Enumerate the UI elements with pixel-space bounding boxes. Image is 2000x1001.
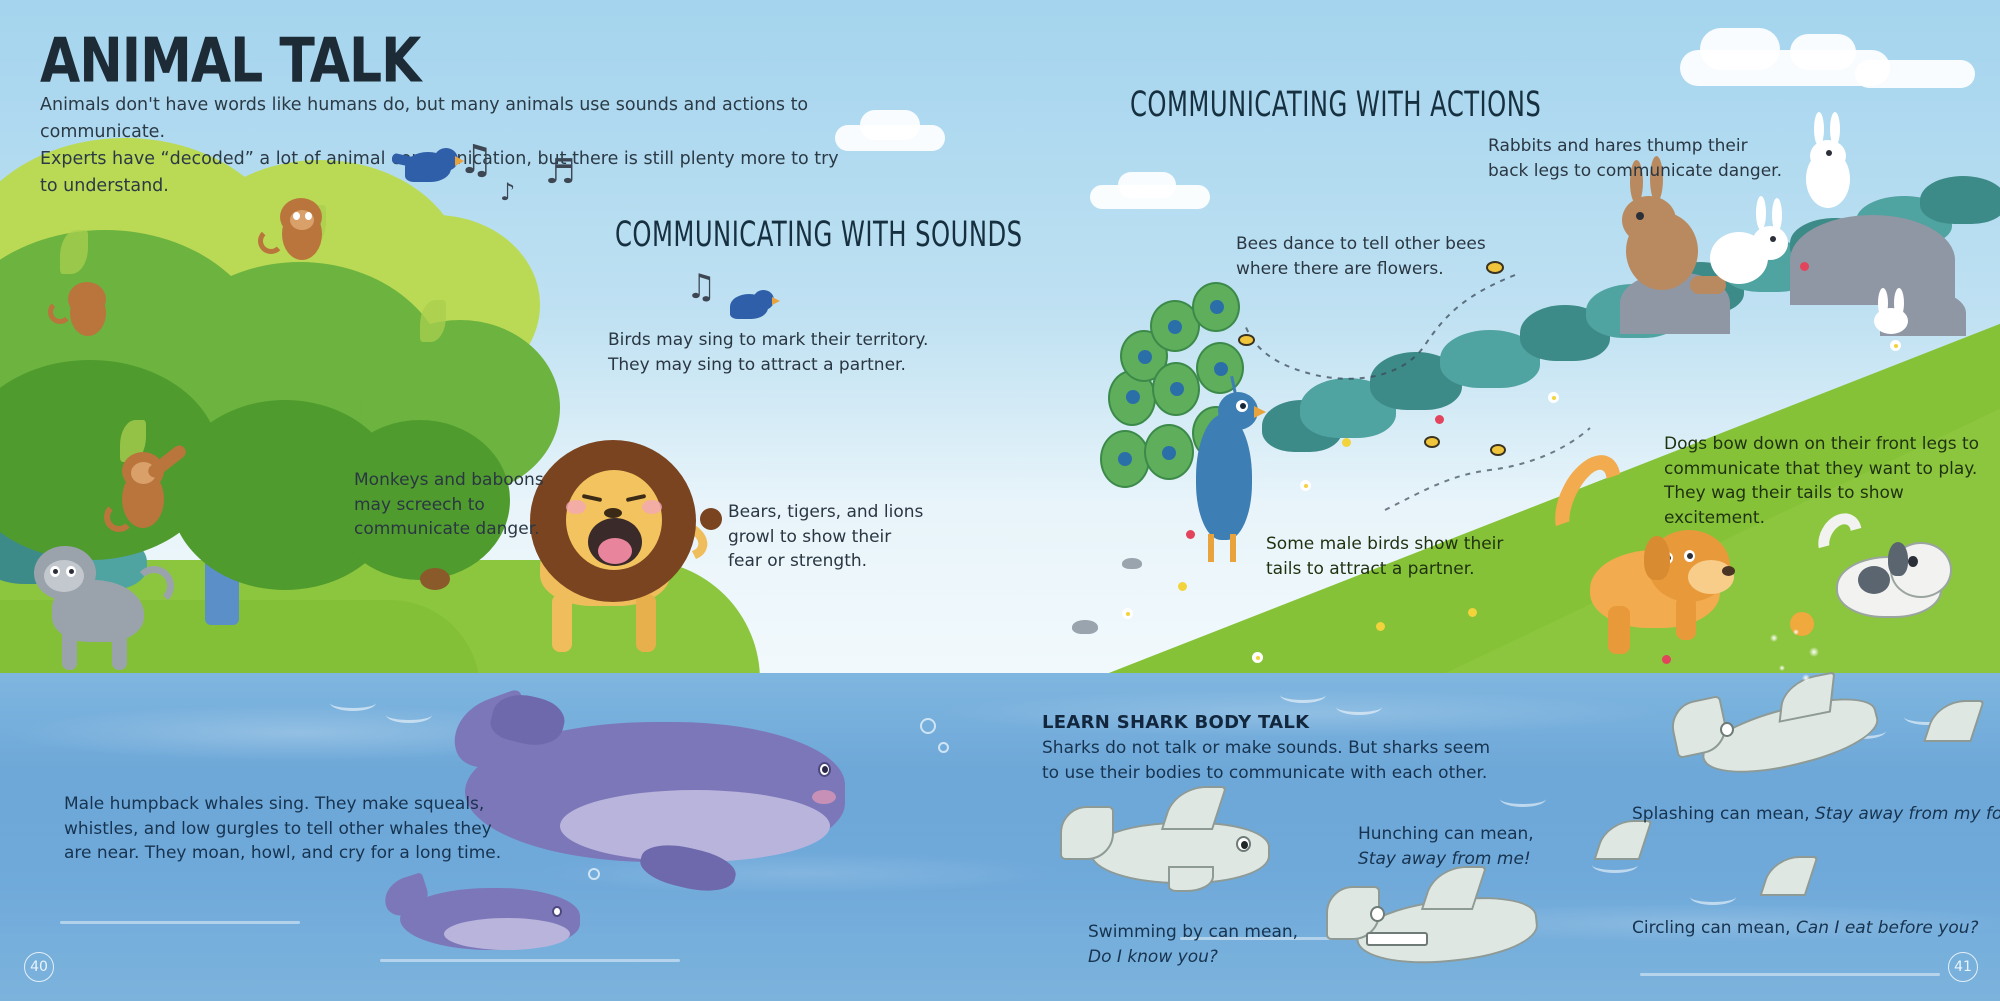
lion-ball: [420, 568, 450, 590]
peacock-eye-spot-3: [1138, 350, 1152, 364]
caption-shark-hunching: Hunching can mean, Stay away from me!: [1358, 822, 1534, 871]
rabbit-brown-head: [1622, 196, 1676, 244]
monkey-hanging-tail: [48, 300, 72, 324]
caption-shark-splashing-italic: Stay away from my food!: [1815, 804, 2000, 824]
dog-orange-nose: [1722, 566, 1735, 576]
flower-red-2: [1435, 415, 1444, 424]
caption-rabbits-line-1: Rabbits and hares thump their: [1488, 134, 1782, 159]
caption-shark-circling-prefix: Circling can mean,: [1632, 918, 1796, 938]
bluebird-mid-beak: [772, 297, 780, 305]
caption-monkeys-line-2: may screech to: [354, 493, 544, 518]
flower-yellow-2: [1468, 608, 1477, 617]
shark-hunching-teeth: [1366, 932, 1428, 946]
heading-communicating-with-actions: COMMUNICATING WITH ACTIONS: [1130, 85, 1541, 125]
caption-shark-intro-line-1: Sharks do not talk or make sounds. But s…: [1042, 736, 1490, 761]
wavelet-4: [1336, 699, 1382, 715]
music-note-4: ♫: [686, 270, 716, 304]
rabbit-white-mid-ear-1: [1756, 196, 1766, 230]
caption-monkeys-line-3: communicate danger.: [354, 517, 544, 542]
whale-bubble-2: [938, 742, 949, 753]
cloud-4: [1118, 172, 1176, 198]
heading-communicating-with-sounds: COMMUNICATING WITH SOUNDS: [615, 215, 1023, 255]
shark-swimming-pupil: [1241, 841, 1248, 849]
peacock-eye-spot-2: [1118, 452, 1132, 466]
caption-dogs-line-1: Dogs bow down on their front legs to: [1664, 432, 2000, 457]
lion-tail-tuft: [700, 508, 722, 530]
baboon-pupil-left: [53, 569, 58, 574]
lion-tongue: [598, 538, 632, 564]
bee-1: [1486, 261, 1504, 274]
caption-bees-line-2: where there are flowers.: [1236, 257, 1486, 282]
caption-peacock-line-1: Some male birds show their: [1266, 532, 1503, 557]
caption-bears-line-3: fear or strength.: [728, 549, 923, 574]
daisy-2: [1548, 392, 1559, 403]
lion-cheek-left: [566, 500, 586, 514]
cloud-6: [1700, 28, 1780, 70]
shark-splashing-eye: [1720, 722, 1734, 737]
bee-3: [1424, 436, 1440, 448]
flower-yellow-1: [1342, 438, 1351, 447]
page-number-right: 41: [1948, 952, 1978, 982]
caption-shark-intro-line-2: to use their bodies to communicate with …: [1042, 761, 1490, 786]
rock-2: [1122, 558, 1142, 569]
cloud-8: [1855, 60, 1975, 88]
wavelet-3: [1280, 687, 1326, 703]
daisy-5: [1252, 652, 1263, 663]
daisy-4: [1122, 608, 1133, 619]
caption-birds-line-2: They may sing to attract a partner.: [608, 353, 928, 378]
flower-yellow-3: [1376, 622, 1385, 631]
caption-monkeys: Monkeys and baboons may screech to commu…: [354, 468, 544, 542]
dog-white-ear: [1888, 542, 1908, 576]
peacock-leg-right: [1230, 534, 1236, 562]
caption-shark-splashing-prefix: Splashing can mean,: [1632, 804, 1815, 824]
wavelet-9: [1500, 791, 1546, 807]
caption-shark-circling: Circling can mean, Can I eat before you?: [1632, 916, 1979, 941]
flower-red-3: [1662, 655, 1671, 664]
seafoam-4: [1640, 973, 1940, 976]
caption-shark-splashing: Splashing can mean, Stay away from my fo…: [1632, 802, 2000, 827]
baboon-face: [44, 560, 84, 592]
caption-birds: Birds may sing to mark their territory. …: [608, 328, 928, 377]
humpback-whale-cheek: [812, 790, 836, 804]
baboon-pupil-right: [69, 569, 74, 574]
daisy-3: [1890, 340, 1901, 351]
flower-red-4: [1800, 262, 1809, 271]
monkey-in-tree-eye-left: [293, 212, 300, 220]
page-title: ANIMAL TALK: [40, 26, 420, 97]
caption-bees: Bees dance to tell other bees where ther…: [1236, 232, 1486, 281]
shark-splash-droplets: [1764, 628, 1824, 686]
caption-shark-swimming-line-2: Do I know you?: [1088, 945, 1298, 970]
rabbit-white-mid-eye: [1770, 236, 1776, 242]
heading-learn-shark-body-talk: LEARN SHARK BODY TALK: [1042, 712, 1309, 733]
ridge-bush-11: [1920, 176, 2000, 224]
cloud-7: [1790, 34, 1856, 70]
peacock-eye-spot-6: [1162, 446, 1176, 460]
lion-nose: [604, 508, 622, 518]
monkey-swinging-tail: [104, 502, 134, 532]
flower-red-1: [1186, 530, 1195, 539]
caption-bears-line-1: Bears, tigers, and lions: [728, 500, 923, 525]
wavelet-8: [1690, 889, 1736, 905]
flower-yellow-4: [1178, 582, 1187, 591]
dog-orange-leg-front: [1676, 596, 1696, 640]
lion-leg-front: [552, 594, 572, 652]
monkey-in-tree-eye-right: [305, 212, 312, 220]
caption-shark-swimming: Swimming by can mean, Do I know you?: [1088, 920, 1298, 969]
rabbit-white-mid-head: [1752, 226, 1788, 260]
monkey-hanging-head: [68, 282, 106, 316]
caption-bears-line-2: growl to show their: [728, 525, 923, 550]
music-note-3: ♬: [545, 155, 575, 189]
wavelet-1: [330, 695, 376, 711]
cloud-2: [860, 110, 920, 140]
dog-white-patch: [1858, 566, 1890, 594]
illustrated-spread: ANIMAL TALK Animals don't have words lik…: [0, 0, 2000, 1001]
caption-bees-line-1: Bees dance to tell other bees: [1236, 232, 1486, 257]
peacock-eye-spot-5: [1170, 382, 1184, 396]
baboon-leg-front: [62, 628, 77, 670]
bluebird-mid-head: [753, 290, 774, 310]
peacock-eye-spot-8: [1214, 362, 1228, 376]
caption-bears: Bears, tigers, and lions growl to show t…: [728, 500, 923, 574]
daisy-1: [1300, 480, 1311, 491]
peacock-leg-left: [1208, 534, 1214, 562]
rock-1: [1072, 620, 1098, 634]
intro-line-1: Animals don't have words like humans do,…: [40, 92, 860, 146]
seafoam-2: [380, 959, 680, 962]
rabbit-white-top-ear-1: [1814, 112, 1824, 146]
humpback-whale-pupil: [822, 766, 828, 773]
caption-dogs-line-3: They wag their tails to show excitement.: [1664, 481, 2000, 530]
caption-shark-hunching-line-2: Stay away from me!: [1358, 847, 1534, 872]
wavelet-2: [386, 707, 432, 723]
peacock-eye-spot-7: [1210, 300, 1224, 314]
baboon-leg-back: [112, 628, 127, 670]
caption-shark-intro: Sharks do not talk or make sounds. But s…: [1042, 736, 1490, 785]
caption-shark-swimming-line-1: Swimming by can mean,: [1088, 920, 1298, 945]
baboon-tail: [134, 566, 174, 606]
bee-4: [1490, 444, 1506, 456]
whale-calf-belly: [444, 918, 570, 950]
caption-shark-circling-italic: Can I eat before you?: [1796, 918, 1979, 938]
caption-rabbits-line-2: back legs to communicate danger.: [1488, 159, 1782, 184]
peacock-eye-spot-1: [1126, 390, 1140, 404]
caption-peacock-line-2: tails to attract a partner.: [1266, 557, 1503, 582]
dog-orange-ear: [1644, 536, 1670, 580]
bee-2: [1238, 334, 1255, 346]
dog-white-eye: [1908, 556, 1918, 567]
shark-swimming-tail-fin: [1060, 806, 1114, 860]
caption-dogs: Dogs bow down on their front legs to com…: [1664, 432, 2000, 530]
caption-whale-line-3: are near. They moan, howl, and cry for a…: [64, 841, 501, 866]
music-note-2: ♪: [500, 180, 515, 204]
page-number-left: 40: [24, 952, 54, 982]
rabbit-white-mid-ear-2: [1772, 198, 1782, 232]
caption-birds-line-1: Birds may sing to mark their territory.: [608, 328, 928, 353]
caption-peacock: Some male birds show their tails to attr…: [1266, 532, 1503, 581]
rabbit-white-top-ear-2: [1830, 112, 1840, 146]
whale-bubble-3: [588, 868, 600, 880]
caption-rabbits: Rabbits and hares thump their back legs …: [1488, 134, 1782, 183]
rabbit-brown-eye: [1636, 212, 1644, 220]
rabbit-white-top-head: [1810, 140, 1846, 172]
caption-dogs-line-2: communicate that they want to play.: [1664, 457, 2000, 482]
bluebird-top-beak: [455, 156, 464, 166]
caption-monkeys-line-1: Monkeys and baboons: [354, 468, 544, 493]
caption-whale-line-2: whistles, and low gurgles to tell other …: [64, 817, 501, 842]
monkey-in-tree-tail: [258, 228, 284, 254]
caption-whale: Male humpback whales sing. They make squ…: [64, 792, 501, 866]
lion-leg-back: [636, 594, 656, 652]
rabbit-white-top-eye: [1826, 150, 1832, 156]
whale-bubble-1: [920, 718, 936, 734]
seafoam-1: [60, 921, 300, 924]
dog-orange-leg-back: [1608, 606, 1630, 654]
caption-shark-hunching-line-1: Hunching can mean,: [1358, 822, 1534, 847]
whale-calf-eye: [552, 906, 562, 917]
peacock-eye-spot-4: [1168, 320, 1182, 334]
rabbit-peeking-head: [1874, 308, 1908, 334]
bee-flight-path: [1240, 265, 1520, 445]
intro-paragraph: Animals don't have words like humans do,…: [40, 92, 860, 200]
shark-hunching-eye: [1370, 906, 1385, 922]
dog-orange-pupil-right: [1687, 553, 1693, 559]
caption-whale-line-1: Male humpback whales sing. They make squ…: [64, 792, 501, 817]
lion-cheek-right: [642, 500, 662, 514]
